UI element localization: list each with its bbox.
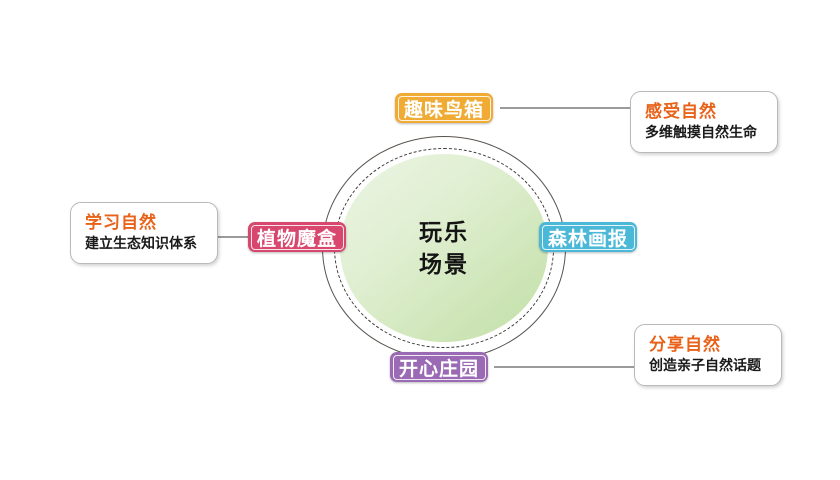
callout-feel-nature[interactable]: 感受自然 多维触摸自然生命 — [630, 91, 778, 153]
callout-subtitle: 建立生态知识体系 — [85, 235, 205, 253]
callout-share-nature[interactable]: 分享自然 创造亲子自然话题 — [634, 324, 782, 386]
callout-subtitle: 创造亲子自然话题 — [649, 357, 769, 375]
callout-title: 感受自然 — [645, 101, 765, 122]
pill-label: 开心庄园 — [399, 354, 479, 381]
core-label-line2: 场景 — [419, 251, 469, 277]
callout-subtitle: 多维触摸自然生命 — [645, 124, 765, 142]
diagram-canvas: 玩乐 场景 趣味鸟箱 植物魔盒 森林画报 开心庄园 感受自然 多维触摸自然生命 … — [0, 0, 840, 480]
pill-forest-pictorial[interactable]: 森林画报 — [539, 222, 637, 252]
pill-label: 植物魔盒 — [257, 224, 337, 251]
callout-learn-nature[interactable]: 学习自然 建立生态知识体系 — [70, 202, 218, 264]
pill-plant-magic-box[interactable]: 植物魔盒 — [248, 222, 346, 252]
pill-label: 趣味鸟箱 — [404, 95, 484, 122]
callout-title: 学习自然 — [85, 212, 205, 233]
callout-title: 分享自然 — [649, 334, 769, 355]
pill-happy-manor[interactable]: 开心庄园 — [390, 352, 488, 382]
pill-bird-box[interactable]: 趣味鸟箱 — [395, 93, 493, 123]
pill-label: 森林画报 — [548, 224, 628, 251]
core-label-line1: 玩乐 — [419, 219, 469, 245]
core-label: 玩乐 场景 — [340, 154, 548, 342]
